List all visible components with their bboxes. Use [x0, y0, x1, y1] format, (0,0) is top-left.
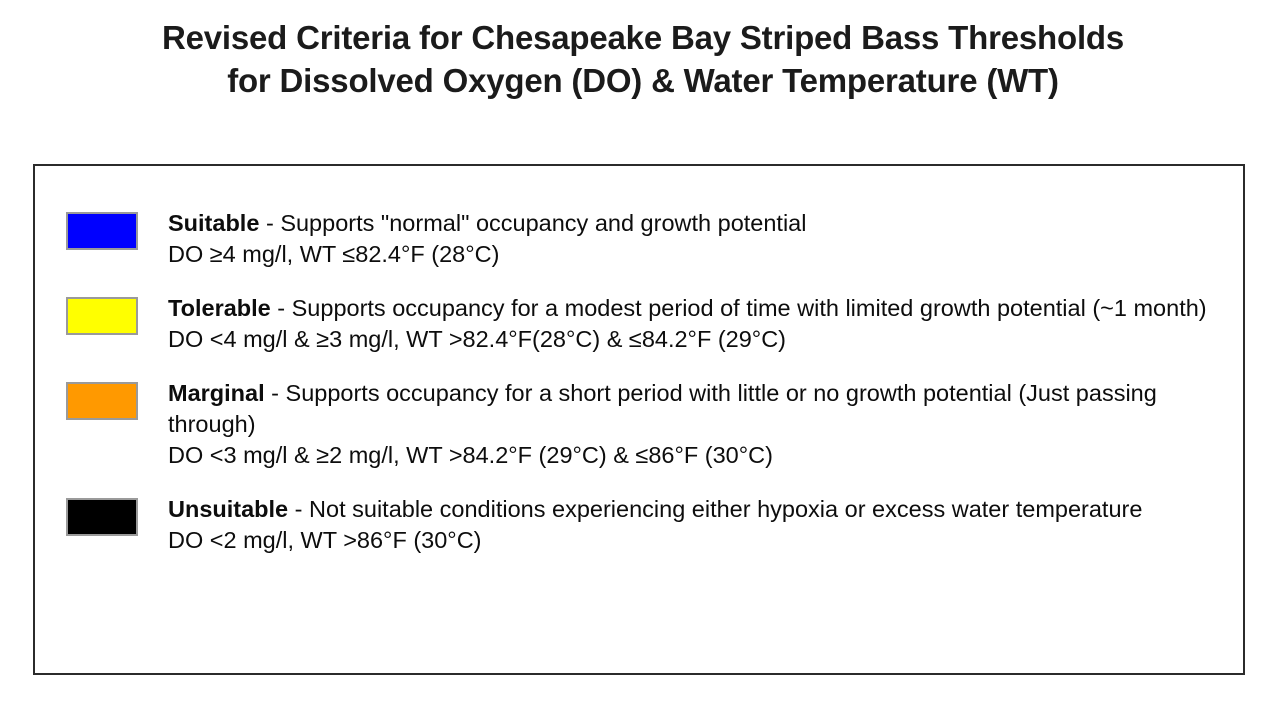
legend-entry-tolerable: Tolerable - Supports occupancy for a mod…	[35, 293, 1243, 355]
page-title-line-1: Revised Criteria for Chesapeake Bay Stri…	[0, 16, 1286, 59]
legend-entry-unsuitable: Unsuitable - Not suitable conditions exp…	[35, 494, 1243, 556]
text-cell-marginal: Marginal - Supports occupancy for a shor…	[168, 378, 1243, 471]
color-swatch-marginal	[66, 382, 138, 420]
entry-thresholds-marginal: DO <3 mg/l & ≥2 mg/l, WT >84.2°F (29°C) …	[168, 440, 1225, 471]
text-cell-suitable: Suitable - Supports "normal" occupancy a…	[168, 208, 1243, 270]
legend-list: Suitable - Supports "normal" occupancy a…	[35, 166, 1243, 556]
legend-entry-marginal: Marginal - Supports occupancy for a shor…	[35, 378, 1243, 471]
entry-text-suitable: Supports "normal" occupancy and growth p…	[280, 210, 806, 236]
swatch-cell-tolerable	[35, 293, 168, 335]
legend-panel: Suitable - Supports "normal" occupancy a…	[33, 164, 1245, 675]
entry-separator-tolerable: -	[271, 295, 292, 321]
page-title: Revised Criteria for Chesapeake Bay Stri…	[0, 0, 1286, 102]
swatch-cell-suitable	[35, 208, 168, 250]
entry-description-marginal: Marginal - Supports occupancy for a shor…	[168, 378, 1225, 440]
entry-label-unsuitable: Unsuitable	[168, 496, 288, 522]
entry-description-suitable: Suitable - Supports "normal" occupancy a…	[168, 208, 1225, 239]
entry-label-marginal: Marginal	[168, 380, 265, 406]
entry-thresholds-suitable: DO ≥4 mg/l, WT ≤82.4°F (28°C)	[168, 239, 1225, 270]
color-swatch-unsuitable	[66, 498, 138, 536]
entry-label-tolerable: Tolerable	[168, 295, 271, 321]
entry-description-unsuitable: Unsuitable - Not suitable conditions exp…	[168, 494, 1225, 525]
text-cell-tolerable: Tolerable - Supports occupancy for a mod…	[168, 293, 1243, 355]
entry-separator-unsuitable: -	[288, 496, 309, 522]
entry-label-suitable: Suitable	[168, 210, 259, 236]
entry-thresholds-unsuitable: DO <2 mg/l, WT >86°F (30°C)	[168, 525, 1225, 556]
entry-thresholds-tolerable: DO <4 mg/l & ≥3 mg/l, WT >82.4°F(28°C) &…	[168, 324, 1225, 355]
entry-separator-marginal: -	[265, 380, 286, 406]
swatch-cell-marginal	[35, 378, 168, 420]
text-cell-unsuitable: Unsuitable - Not suitable conditions exp…	[168, 494, 1243, 556]
page-title-line-2: for Dissolved Oxygen (DO) & Water Temper…	[0, 59, 1286, 102]
entry-text-unsuitable: Not suitable conditions experiencing eit…	[309, 496, 1142, 522]
entry-description-tolerable: Tolerable - Supports occupancy for a mod…	[168, 293, 1225, 324]
entry-separator-suitable: -	[259, 210, 280, 236]
legend-entry-suitable: Suitable - Supports "normal" occupancy a…	[35, 208, 1243, 270]
color-swatch-suitable	[66, 212, 138, 250]
color-swatch-tolerable	[66, 297, 138, 335]
swatch-cell-unsuitable	[35, 494, 168, 536]
entry-text-marginal: Supports occupancy for a short period wi…	[168, 380, 1157, 437]
entry-text-tolerable: Supports occupancy for a modest period o…	[292, 295, 1207, 321]
